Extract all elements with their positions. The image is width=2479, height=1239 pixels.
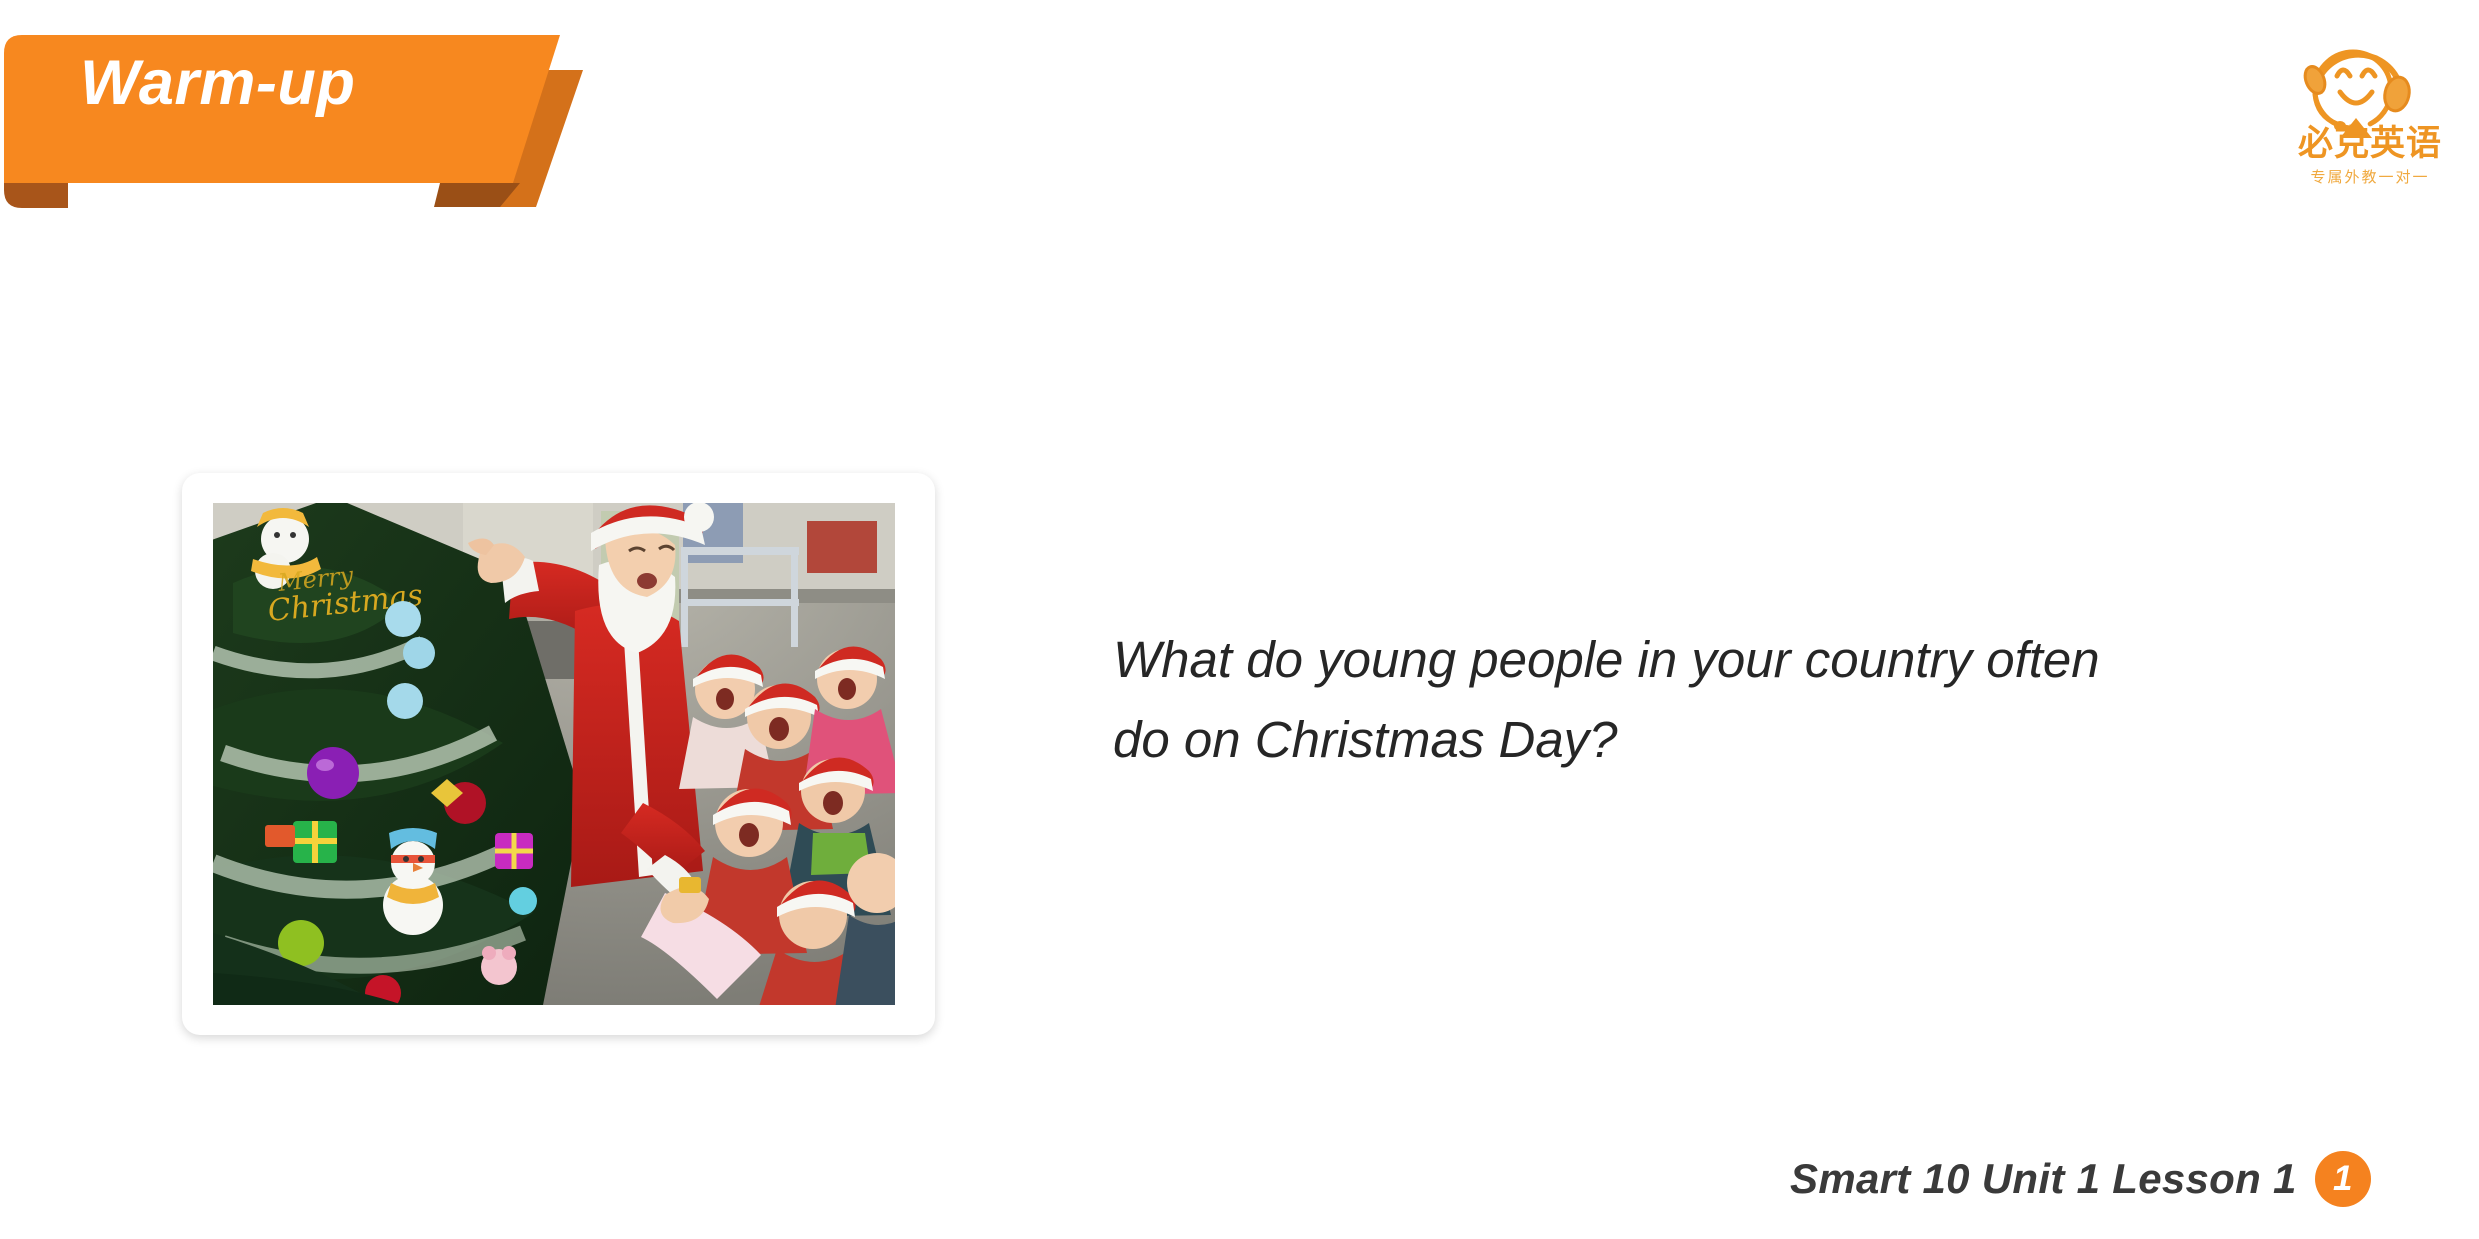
banner-title: Warm-up	[80, 52, 355, 115]
brand-tagline: 专属外教一对一	[2280, 166, 2460, 187]
warm-up-banner: Warm-up	[0, 0, 600, 230]
photo-frame: Christmas Merry	[213, 503, 895, 1005]
brand-name: 必克英语	[2280, 126, 2460, 163]
christmas-photo-card: Christmas Merry	[182, 473, 935, 1035]
lesson-footer: Smart 10 Unit 1 Lesson 1 1	[1790, 1148, 2371, 1210]
page-number-badge: 1	[2315, 1151, 2371, 1207]
question-text: What do young people in your country oft…	[1113, 620, 2313, 779]
christmas-scene-illustration: Christmas Merry	[213, 503, 895, 1005]
smiley-headset-icon	[2288, 22, 2424, 140]
lesson-label: Smart 10 Unit 1 Lesson 1	[1790, 1155, 2297, 1203]
question-line-2: do on Christmas Day?	[1113, 700, 2313, 780]
banner-left-tail	[4, 183, 68, 208]
brand-logo: 必克英语 专属外教一对一	[2280, 22, 2460, 202]
question-line-1: What do young people in your country oft…	[1113, 620, 2313, 700]
